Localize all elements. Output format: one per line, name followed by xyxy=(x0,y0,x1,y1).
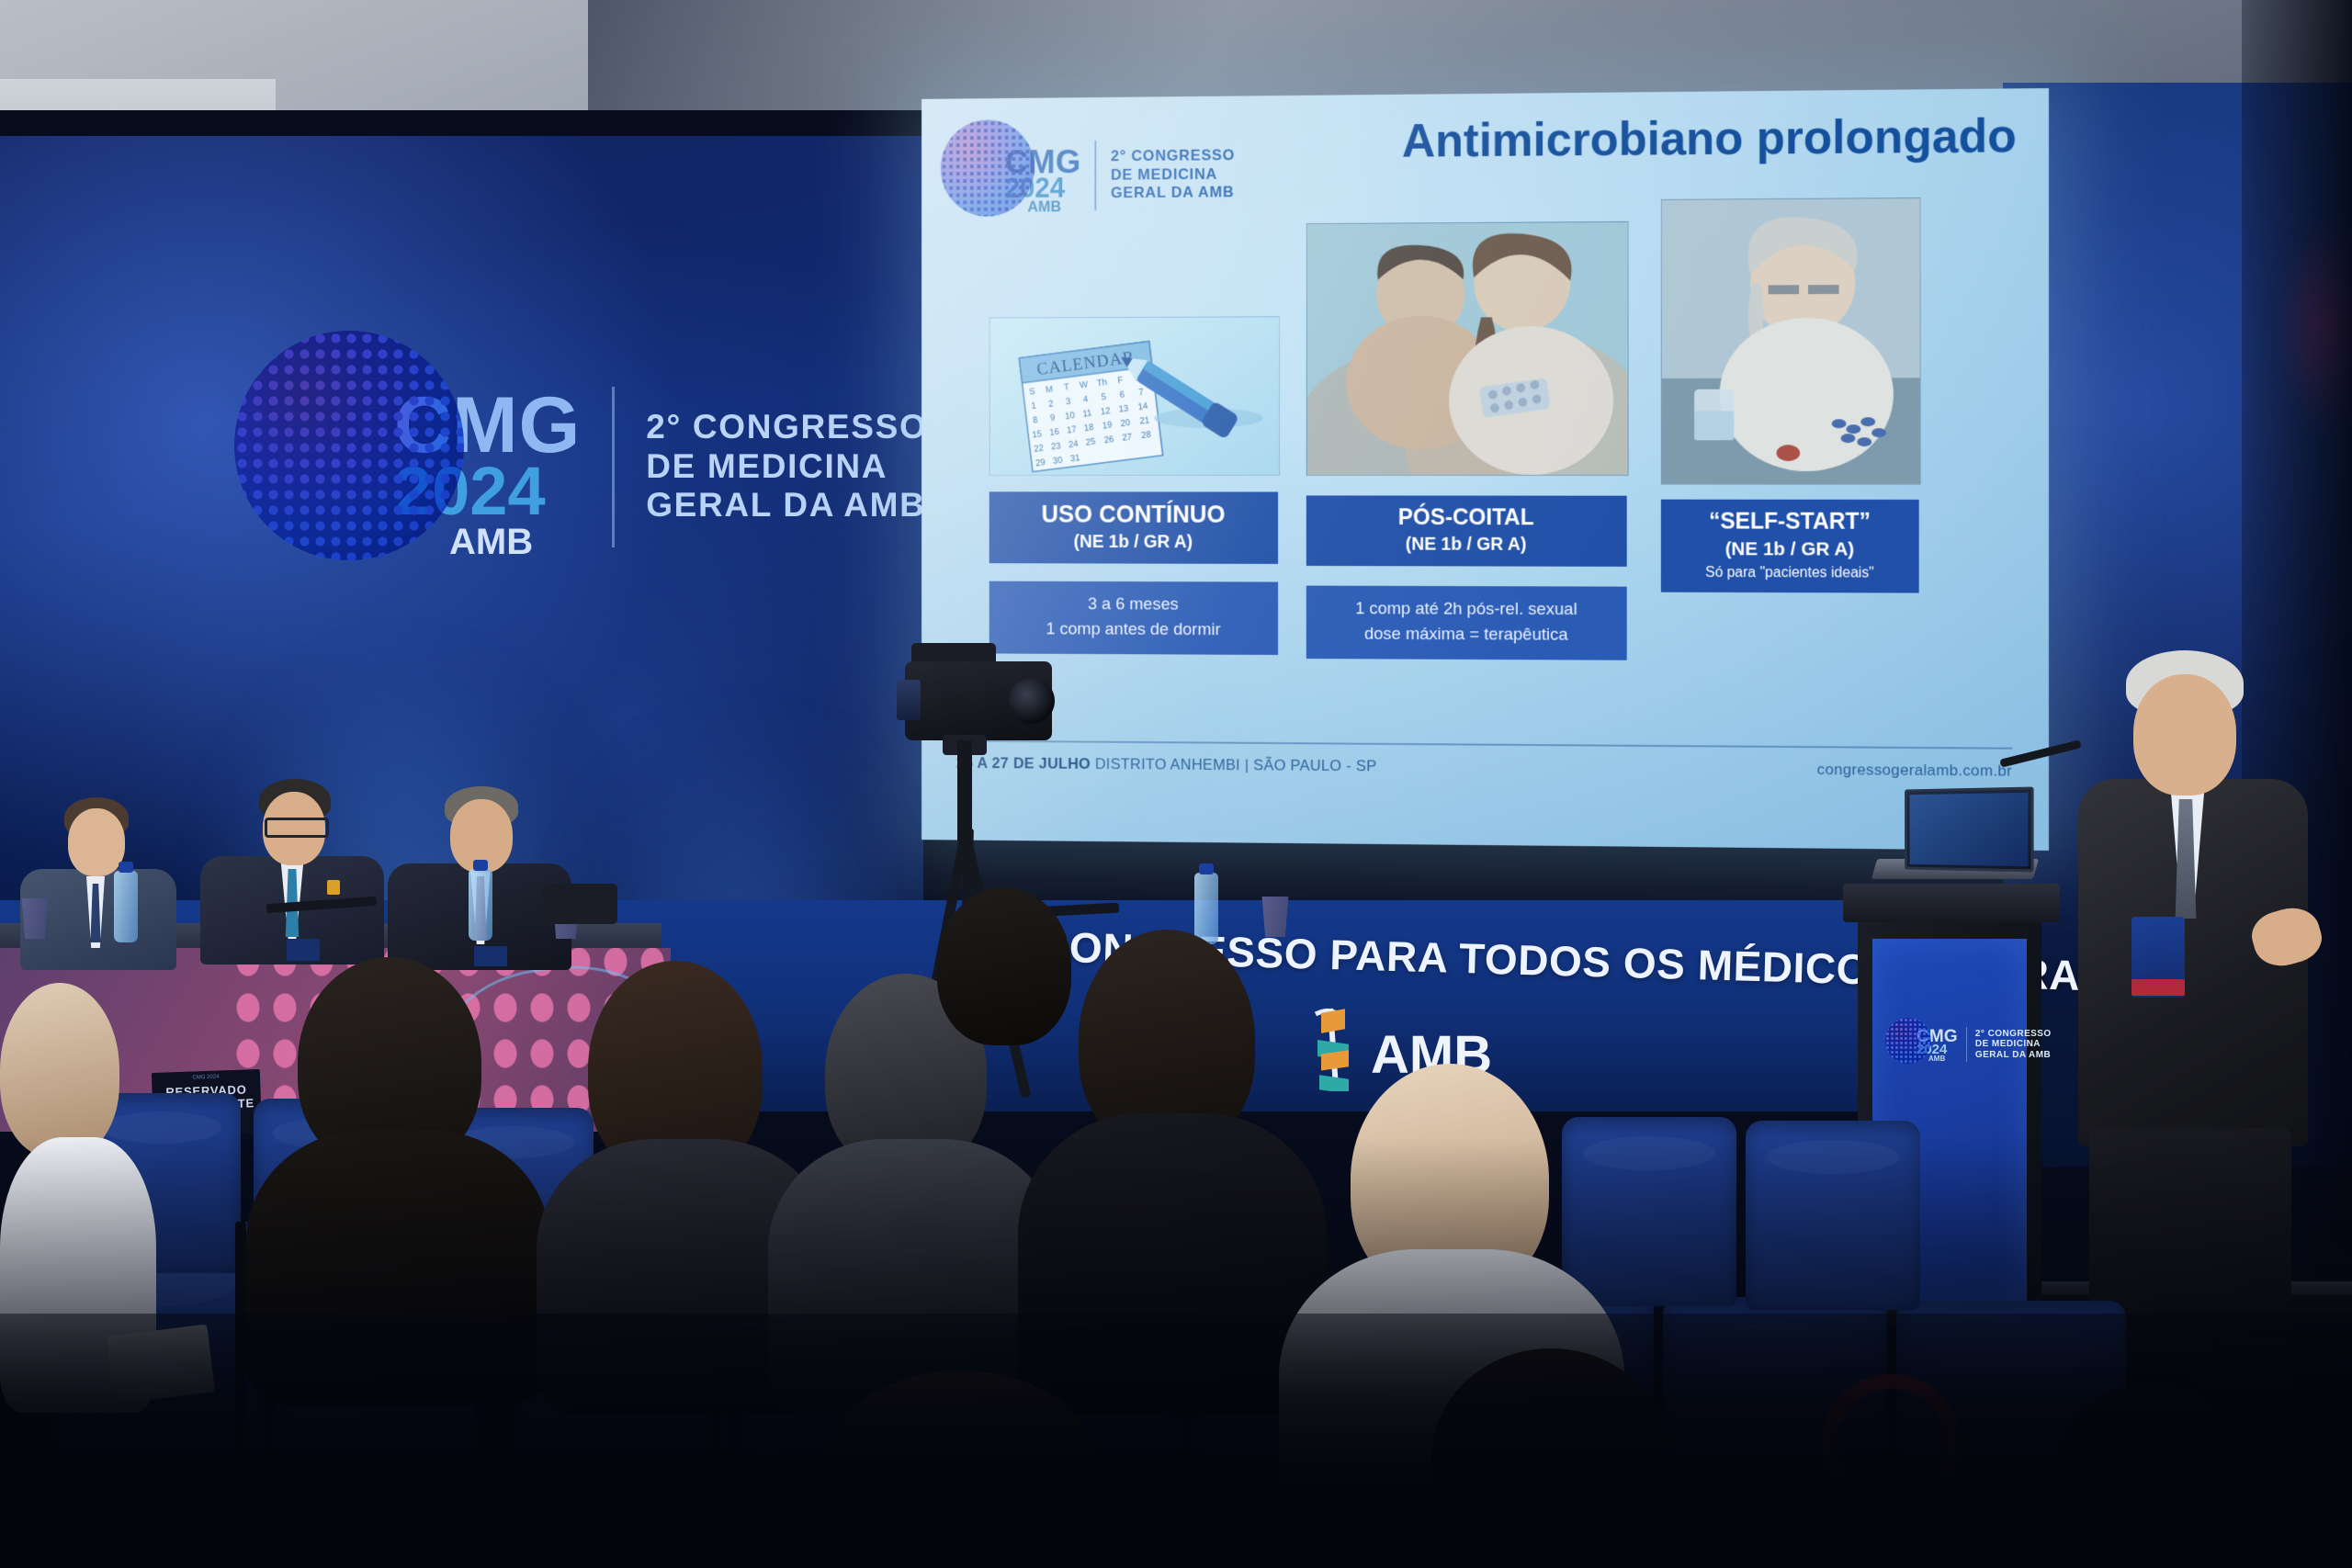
podium-tagline: 2° CONGRESSO DE MEDICINA GERAL DA AMB xyxy=(1975,1029,2052,1061)
panelist-2-glasses xyxy=(265,818,329,838)
audience-chair[interactable] xyxy=(1562,1117,1736,1306)
podium-logo-divider xyxy=(1966,1027,1967,1062)
conference-photo: CMG 2024 AMB 2° CONGRESSO DE MEDICINA GE… xyxy=(0,0,2352,1568)
camera-lens-icon xyxy=(1009,678,1055,724)
tripod-column xyxy=(957,740,972,841)
podium-tagline-line-1: 2° CONGRESSO xyxy=(1975,1029,2052,1040)
camera-flip-screen xyxy=(897,680,921,720)
speaker-badge-ribbon xyxy=(2131,979,2185,996)
podium-amb-mark: AMB xyxy=(1928,1056,1958,1063)
speaker xyxy=(2069,650,2352,1312)
backdrop-tagline-line-3: GERAL DA AMB xyxy=(646,486,927,525)
speaker-head xyxy=(2133,674,2236,795)
backdrop-tagline-line-2: DE MEDICINA xyxy=(646,447,927,487)
podium-tagline-line-3: GERAL DA AMB xyxy=(1975,1050,2052,1061)
panelist-2-badge xyxy=(287,939,320,961)
podium-tagline-line-2: DE MEDICINA xyxy=(1975,1039,2052,1050)
audience-member-head xyxy=(0,983,119,1157)
floor xyxy=(0,1314,2352,1568)
podium-logo-lockup: CMG 2024 AMB 2° CONGRESSO DE MEDICINA GE… xyxy=(1885,1018,2052,1064)
water-bottle-2 xyxy=(469,869,492,941)
backdrop-tagline-line-1: 2° CONGRESSO xyxy=(646,408,927,447)
laptop-screen xyxy=(1905,786,2034,872)
table-device xyxy=(542,884,617,924)
panelist-3-badge xyxy=(474,946,507,966)
podium-globe-icon xyxy=(1885,1018,1931,1064)
water-bottle-1 xyxy=(114,871,138,942)
panelist-1-head xyxy=(68,808,125,876)
panelist-2-lapel-pin xyxy=(327,880,340,895)
audience-chair[interactable] xyxy=(1746,1121,1920,1310)
projection-screen: CMG 2024 AMB 2° CONGRESSO DE MEDICINA GE… xyxy=(922,88,2049,851)
panelist-2 xyxy=(198,777,391,961)
backdrop-tagline: 2° CONGRESSO DE MEDICINA GERAL DA AMB xyxy=(646,408,927,526)
podium-top-surface xyxy=(1843,884,2060,922)
globe-icon xyxy=(234,331,464,560)
screen-sheen xyxy=(922,88,2049,851)
backdrop-logo-lockup: CMG 2024 AMB 2° CONGRESSO DE MEDICINA GE… xyxy=(234,331,927,560)
water-bottle-3 xyxy=(1194,873,1218,944)
audience-member-head xyxy=(937,887,1071,1045)
logo-divider xyxy=(612,387,615,547)
amb-mark: AMB xyxy=(449,526,581,558)
